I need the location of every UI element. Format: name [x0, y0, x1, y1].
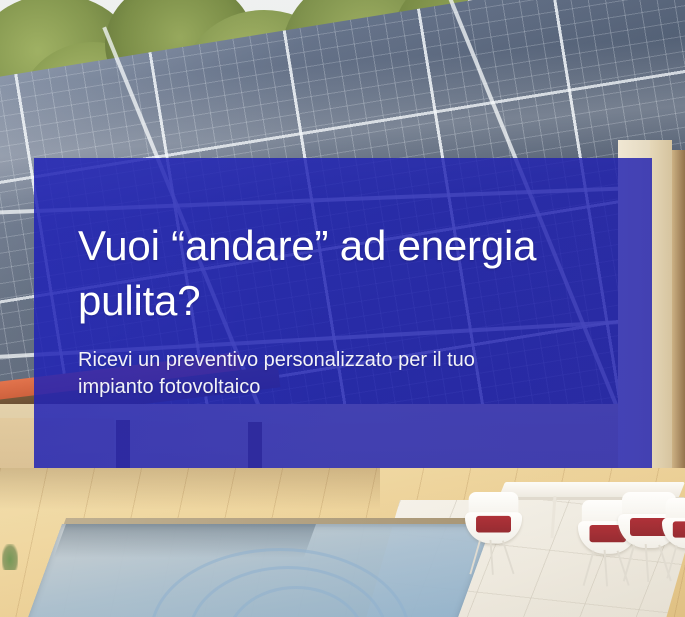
- chair-legs: [471, 540, 517, 575]
- deck-shadow: [0, 468, 380, 510]
- small-plant: [2, 544, 18, 570]
- chair-cushion: [673, 521, 685, 537]
- blue-overlay-card: Vuoi “andare” ad energia pulita? Ricevi …: [34, 158, 652, 468]
- chair-legs: [667, 545, 685, 579]
- right-wall-shadow: [672, 150, 685, 490]
- page-title: Vuoi “andare” ad energia pulita?: [78, 218, 618, 328]
- chair-cushion: [476, 516, 511, 533]
- overlay-content: Vuoi “andare” ad energia pulita? Ricevi …: [78, 158, 628, 468]
- page-subtitle: Ricevi un preventivo personalizzato per …: [78, 347, 598, 401]
- pillar: [650, 140, 672, 500]
- hero-banner: Vuoi “andare” ad energia pulita? Ricevi …: [0, 0, 685, 617]
